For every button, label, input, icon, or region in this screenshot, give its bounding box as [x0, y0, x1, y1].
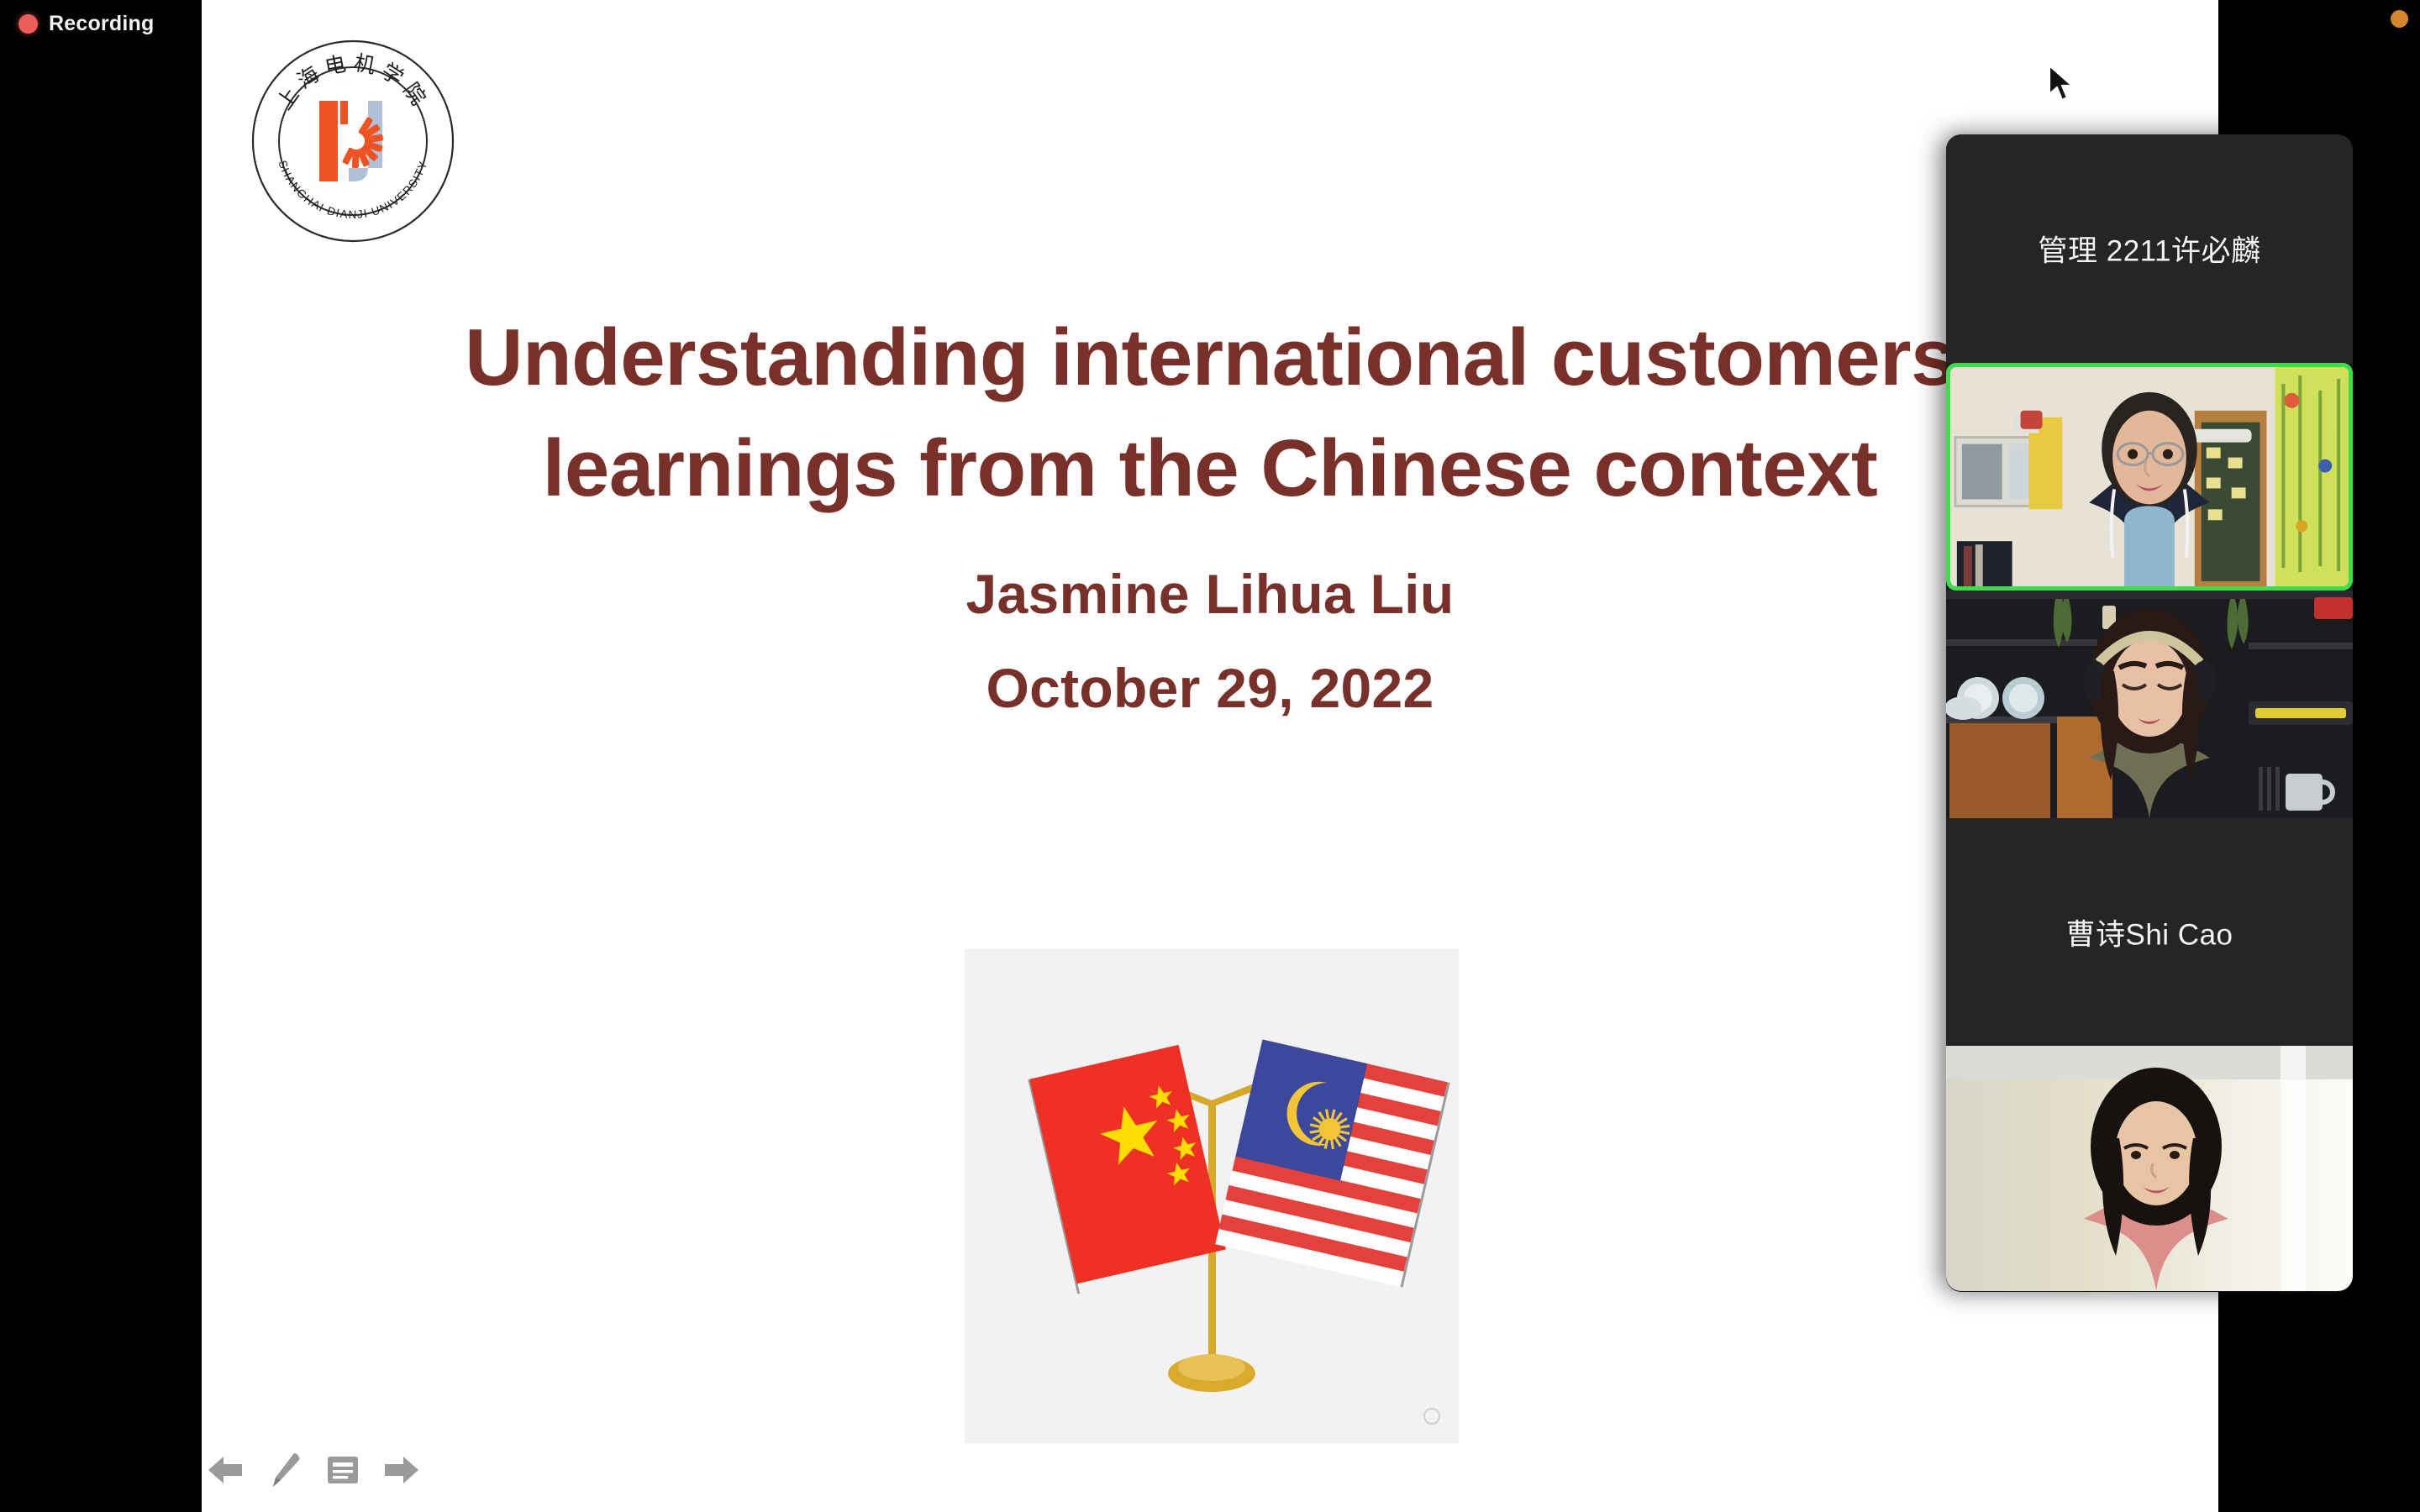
arrow-right-icon[interactable] — [378, 1446, 425, 1494]
status-dot-icon — [2391, 10, 2408, 28]
notes-icon[interactable] — [319, 1446, 366, 1494]
presentation-slide: 上海电机学院 SHANGHAI DIANJI UNIVERSITY Unders… — [202, 0, 2218, 1512]
participant-filmstrip[interactable]: 管理 2211许必麟 — [1946, 134, 2353, 1292]
recording-indicator: Recording — [18, 12, 154, 36]
university-seal-logo: 上海电机学院 SHANGHAI DIANJI UNIVERSITY — [250, 39, 455, 244]
participant-tile[interactable] — [1946, 1046, 2353, 1291]
participant-tile[interactable]: 曹诗Shi Cao — [1946, 818, 2353, 1046]
participant-video — [1946, 591, 2353, 818]
pen-icon[interactable] — [260, 1446, 308, 1494]
participant-video — [1946, 1046, 2353, 1291]
arrow-left-icon[interactable] — [202, 1446, 249, 1494]
record-dot-icon — [18, 14, 38, 34]
participant-name: 管理 2211许必麟 — [1946, 228, 2353, 270]
participant-tile[interactable] — [1946, 591, 2353, 818]
presentation-date: October 29, 2022 — [202, 656, 2218, 720]
presenter-name: Jasmine Lihua Liu — [202, 562, 2218, 626]
screen-root: Recording — [0, 0, 2420, 1512]
participant-video — [1950, 367, 2349, 586]
slide-title-line-1: Understanding international customers — [202, 302, 2218, 413]
desk-flags-photo — [965, 949, 1459, 1443]
slide-navigation-toolbar[interactable] — [202, 1446, 425, 1494]
participant-tile-active-speaker[interactable] — [1946, 363, 2353, 591]
slide-title-block: Understanding international customers le… — [202, 302, 2218, 720]
participant-name: 曹诗Shi Cao — [1946, 911, 2353, 953]
slide-title-line-2: learnings from the Chinese context — [202, 413, 2218, 524]
participant-tile[interactable]: 管理 2211许必麟 — [1946, 134, 2353, 363]
recording-label: Recording — [49, 12, 154, 36]
